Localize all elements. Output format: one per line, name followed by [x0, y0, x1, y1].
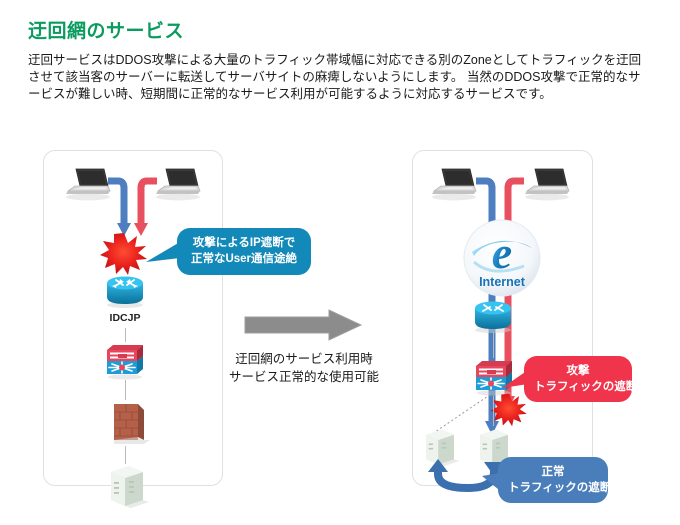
callout-line-1: 攻撃 — [534, 363, 622, 379]
link-line — [493, 332, 494, 358]
callout-tail-icon — [146, 240, 180, 266]
link-line — [125, 380, 126, 400]
internet-cloud-icon: e Internet — [462, 218, 542, 298]
transition-arrow-icon — [243, 308, 363, 342]
intro-paragraph: 迂回サービスはDDOS攻撃による大量のトラフィック帯域幅に対応できる別のZone… — [28, 52, 644, 103]
router-icon — [104, 275, 146, 309]
callout-line-2: 正常なUser通信途絶 — [187, 251, 301, 267]
callout-attack-ip-block: 攻撃によるIP遮断で 正常なUser通信途絶 — [177, 228, 311, 275]
transition-caption: 迂回網のサービス利用時 サービス正常的な使用可能 — [228, 350, 380, 386]
router-label-idcjp: IDCJP — [97, 312, 153, 324]
page-title: 迂回網のサービス — [28, 16, 184, 43]
callout-line-1: 正常 — [508, 464, 598, 480]
diagram-stage: IDCJP — [0, 140, 680, 500]
callout-attack-traffic-block: 攻撃 トラフィックの遮断 — [524, 356, 632, 402]
callout-line-2: トラフィックの遮断 — [508, 480, 598, 496]
switch-icon — [103, 340, 147, 380]
callout-line-2: トラフィックの遮断 — [534, 379, 622, 395]
link-line — [493, 396, 494, 426]
callout-line-1: 攻撃によるIP遮断で — [187, 235, 301, 251]
server-icon — [103, 462, 151, 510]
firewall-icon — [106, 398, 152, 448]
explosion-icon — [100, 232, 148, 276]
callout-normal-traffic: 正常 トラフィックの遮断 — [498, 457, 608, 503]
callout-tail-icon — [482, 472, 506, 498]
transition-caption-line-2: サービス正常的な使用可能 — [228, 368, 380, 386]
router-icon — [472, 300, 514, 334]
internet-cloud-label: Internet — [479, 275, 526, 289]
callout-tail-icon — [502, 368, 528, 392]
transition-caption-line-1: 迂回網のサービス利用時 — [228, 350, 380, 368]
